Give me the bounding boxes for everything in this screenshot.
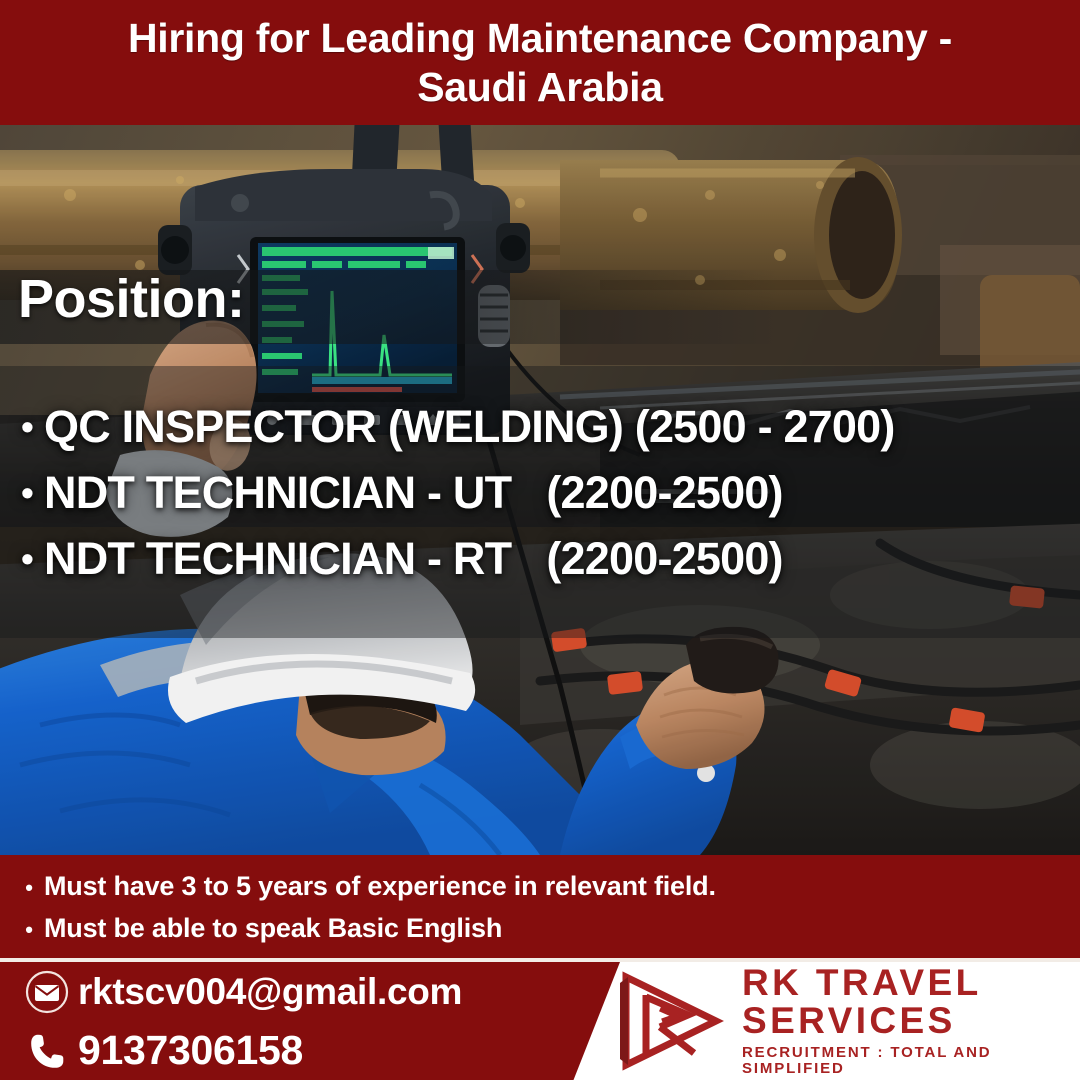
logo-wordmark: RK TRAVEL SERVICES RECRUITMENT : TOTAL A… <box>728 964 1080 1077</box>
list-item: • NDT TECHNICIAN - UT (2200-2500) <box>10 460 1070 526</box>
phone-row[interactable]: 9137306158 <box>16 1021 600 1080</box>
bullet-icon: • <box>14 868 44 908</box>
list-item: • NDT TECHNICIAN - RT (2200-2500) <box>10 526 1070 592</box>
email-row[interactable]: rktscv004@gmail.com <box>16 962 600 1021</box>
phone-icon <box>16 1028 78 1074</box>
bullet-icon: • <box>10 394 44 460</box>
footer: rktscv004@gmail.com 9137306158 <box>0 962 1080 1080</box>
phone-number: 9137306158 <box>78 1027 303 1074</box>
contact-details: rktscv004@gmail.com 9137306158 <box>0 962 600 1080</box>
email-address: rktscv004@gmail.com <box>78 971 462 1013</box>
bullet-icon: • <box>10 460 44 526</box>
rk-triangle-r-monogram-icon <box>612 971 728 1071</box>
bullet-icon: • <box>10 526 44 592</box>
job-positions-list: • QC INSPECTOR (WELDING) (2500 - 2700) •… <box>10 394 1070 592</box>
requirement-text: Must have 3 to 5 years of experience in … <box>44 866 716 906</box>
job-posting-poster: Hiring for Leading Maintenance Company -… <box>0 0 1080 1080</box>
list-item: • QC INSPECTOR (WELDING) (2500 - 2700) <box>10 394 1070 460</box>
list-item: • Must have 3 to 5 years of experience i… <box>14 866 1080 908</box>
envelope-icon <box>16 969 78 1015</box>
requirements-list: • Must have 3 to 5 years of experience i… <box>0 855 1080 950</box>
requirements-banner: • Must have 3 to 5 years of experience i… <box>0 855 1080 962</box>
header-banner: Hiring for Leading Maintenance Company -… <box>0 0 1080 125</box>
requirement-text: Must be able to speak Basic English <box>44 908 502 948</box>
position-label: Position: <box>18 268 244 330</box>
job-title: NDT TECHNICIAN - RT (2200-2500) <box>44 526 783 592</box>
company-logo: RK TRAVEL SERVICES RECRUITMENT : TOTAL A… <box>612 962 1080 1080</box>
company-tagline: RECRUITMENT : TOTAL AND SIMPLIFIED <box>742 1040 1080 1078</box>
bullet-icon: • <box>14 910 44 950</box>
page-title: Hiring for Leading Maintenance Company -… <box>102 14 978 111</box>
list-item: • Must be able to speak Basic English <box>14 908 1080 950</box>
job-title: NDT TECHNICIAN - UT (2200-2500) <box>44 460 783 526</box>
job-title: QC INSPECTOR (WELDING) (2500 - 2700) <box>44 394 895 460</box>
company-name: RK TRAVEL SERVICES <box>742 964 1080 1039</box>
